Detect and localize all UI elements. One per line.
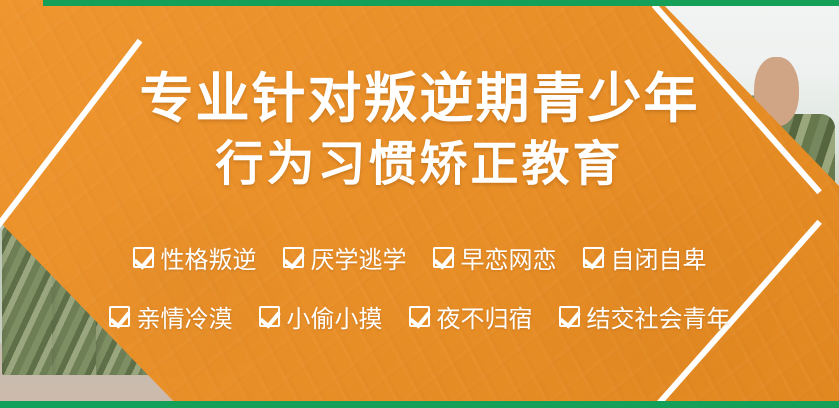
tag-item[interactable]: 自闭自卑 (583, 240, 707, 275)
checkbox-checked-icon[interactable] (433, 247, 454, 268)
checkbox-checked-icon[interactable] (259, 306, 280, 327)
tag-label: 早恋网恋 (461, 240, 557, 275)
tag-row: 性格叛逆 厌学逃学 早恋网恋 自闭自卑 (0, 240, 839, 275)
tag-label: 小偷小摸 (287, 299, 383, 334)
behavior-tag-list: 性格叛逆 厌学逃学 早恋网恋 自闭自卑 亲情冷漠 (0, 240, 839, 358)
checkbox-checked-icon[interactable] (409, 306, 430, 327)
tag-item[interactable]: 小偷小摸 (259, 299, 383, 334)
headline-line-2: 行为习惯矫正教育 (0, 137, 839, 193)
tag-row: 亲情冷漠 小偷小摸 夜不归宿 结交社会青年 (0, 299, 839, 334)
headline-line-1: 专业针对叛逆期青少年 (0, 68, 839, 130)
checkbox-checked-icon[interactable] (283, 247, 304, 268)
tag-item[interactable]: 厌学逃学 (283, 240, 407, 275)
banner-content: 专业针对叛逆期青少年 行为习惯矫正教育 性格叛逆 厌学逃学 早恋网恋 (0, 0, 839, 408)
tag-label: 夜不归宿 (437, 299, 533, 334)
tag-item[interactable]: 结交社会青年 (559, 299, 731, 334)
checkbox-checked-icon[interactable] (583, 247, 604, 268)
checkbox-checked-icon[interactable] (109, 306, 130, 327)
checkbox-checked-icon[interactable] (133, 247, 154, 268)
tag-item[interactable]: 早恋网恋 (433, 240, 557, 275)
tag-item[interactable]: 亲情冷漠 (109, 299, 233, 334)
tag-label: 亲情冷漠 (137, 299, 233, 334)
tag-label: 结交社会青年 (587, 299, 731, 334)
tag-label: 性格叛逆 (161, 240, 257, 275)
checkbox-checked-icon[interactable] (559, 306, 580, 327)
promo-banner: 专业针对叛逆期青少年 行为习惯矫正教育 性格叛逆 厌学逃学 早恋网恋 (0, 0, 839, 408)
tag-label: 厌学逃学 (311, 240, 407, 275)
tag-label: 自闭自卑 (611, 240, 707, 275)
tag-item[interactable]: 夜不归宿 (409, 299, 533, 334)
tag-item[interactable]: 性格叛逆 (133, 240, 257, 275)
